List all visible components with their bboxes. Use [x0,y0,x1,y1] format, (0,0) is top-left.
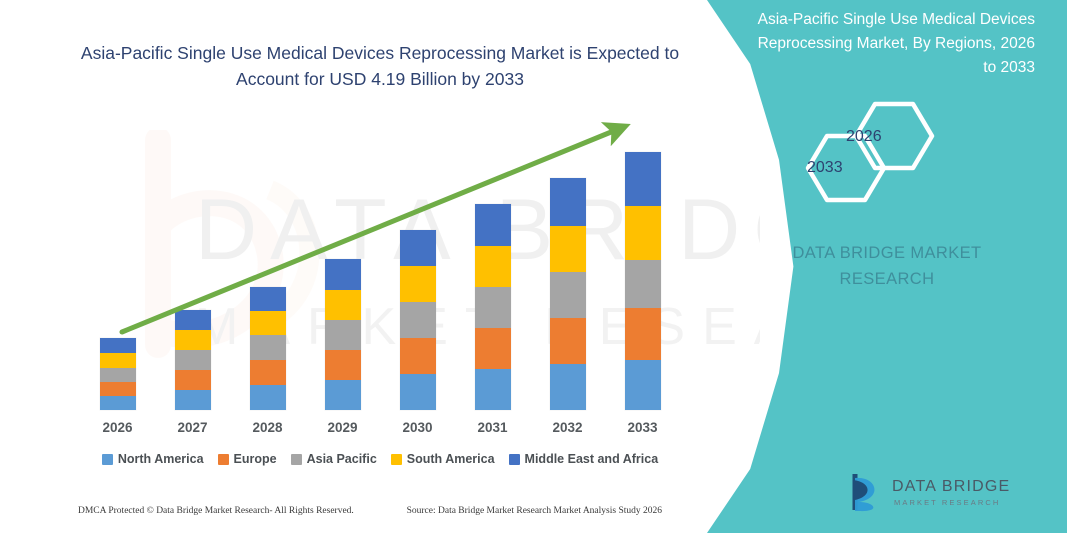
legend-item[interactable]: North America [102,452,204,466]
dbmr-logo-subtitle: MARKET RESEARCH [894,498,1000,507]
stacked-bar [475,204,511,410]
bar-segment [625,308,661,360]
dbmr-logo-name: DATA BRIDGE [892,478,1010,496]
stacked-bar [325,259,361,410]
bar-segment [400,302,436,338]
stacked-bar [550,178,586,410]
bar-segment [100,368,136,382]
right-panel-brand: DATA BRIDGE MARKET RESEARCH [707,240,1067,293]
brand-line-2: RESEARCH [707,266,1067,292]
footer-source: Source: Data Bridge Market Research Mark… [407,506,662,516]
bar-segment [325,320,361,350]
legend-label: Asia Pacific [307,452,377,466]
bar-segment [625,152,661,206]
bar-segment [625,206,661,260]
infographic-slide: DATA BRIDGE MARKET RESEARCH Asia-Pacific… [0,0,1067,533]
legend-label: Europe [234,452,277,466]
bar-segment [175,310,211,330]
bar-segment [550,226,586,272]
stacked-bar [400,230,436,410]
bar-segment [250,360,286,385]
x-axis-tick-2029: 2029 [308,420,378,435]
x-axis-tick-2032: 2032 [533,420,603,435]
bar-segment [175,370,211,390]
bar-segment [100,396,136,410]
bar-segment [250,311,286,335]
legend-item[interactable]: South America [391,452,495,466]
x-axis-tick-2027: 2027 [158,420,228,435]
bar-segment [550,272,586,318]
legend-label: Middle East and Africa [525,452,659,466]
bar-segment [100,338,136,353]
stacked-bar [250,287,286,410]
bar-segment [250,385,286,410]
bar-segment [475,369,511,410]
chart-panel: DATA BRIDGE MARKET RESEARCH Asia-Pacific… [0,0,760,533]
hexagon-2033-label: 2033 [807,159,843,177]
bar-segment [550,318,586,364]
stacked-bar-group [80,118,680,410]
bar-column [83,118,153,410]
bar-segment [550,178,586,226]
bar-segment [625,260,661,308]
bar-segment [625,360,661,410]
legend-item[interactable]: Middle East and Africa [509,452,659,466]
bar-segment [400,374,436,410]
bar-segment [475,246,511,287]
chart-plot-area [80,118,680,410]
x-axis-tick-2028: 2028 [233,420,303,435]
bar-column [308,118,378,410]
bar-segment [100,382,136,396]
bar-segment [100,353,136,368]
bar-segment [175,390,211,410]
right-teal-panel: Asia-Pacific Single Use Medical Devices … [707,0,1067,533]
legend-label: South America [407,452,495,466]
bar-segment [325,350,361,380]
x-axis-tick-2033: 2033 [608,420,678,435]
hexagon-badges [785,96,1015,206]
bar-segment [475,287,511,328]
bar-segment [175,350,211,370]
legend-swatch-icon [391,454,402,465]
stacked-bar [100,338,136,410]
legend-swatch-icon [509,454,520,465]
bar-segment [400,338,436,374]
bar-segment [175,330,211,350]
hexagon-2026-label: 2026 [846,128,882,146]
bar-segment [475,328,511,369]
bar-column [608,118,678,410]
right-panel-title: Asia-Pacific Single Use Medical Devices … [755,8,1035,80]
bar-segment [325,290,361,320]
brand-line-1: DATA BRIDGE MARKET [707,240,1067,266]
x-axis-labels: 20262027202820292030203120322033 [80,415,680,439]
bar-column [533,118,603,410]
x-axis-tick-2031: 2031 [458,420,528,435]
bar-column [383,118,453,410]
footer-bar: DMCA Protected © Data Bridge Market Rese… [0,506,740,516]
legend-swatch-icon [102,454,113,465]
stacked-bar [625,152,661,410]
chart-title: Asia-Pacific Single Use Medical Devices … [60,40,700,93]
legend-swatch-icon [218,454,229,465]
bar-segment [325,259,361,290]
bar-segment [325,380,361,410]
stacked-bar [175,310,211,410]
legend-swatch-icon [291,454,302,465]
bar-segment [550,364,586,410]
legend-label: North America [118,452,204,466]
x-axis-tick-2030: 2030 [383,420,453,435]
x-axis-tick-2026: 2026 [83,420,153,435]
bar-column [458,118,528,410]
legend-item[interactable]: Asia Pacific [291,452,377,466]
footer-copyright: DMCA Protected © Data Bridge Market Rese… [78,506,354,516]
legend-item[interactable]: Europe [218,452,277,466]
bar-segment [400,266,436,302]
chart-legend: North AmericaEuropeAsia PacificSouth Ame… [60,452,700,466]
bar-column [158,118,228,410]
bar-segment [250,287,286,311]
bar-segment [250,335,286,360]
bar-column [233,118,303,410]
bar-segment [475,204,511,246]
bar-segment [400,230,436,266]
